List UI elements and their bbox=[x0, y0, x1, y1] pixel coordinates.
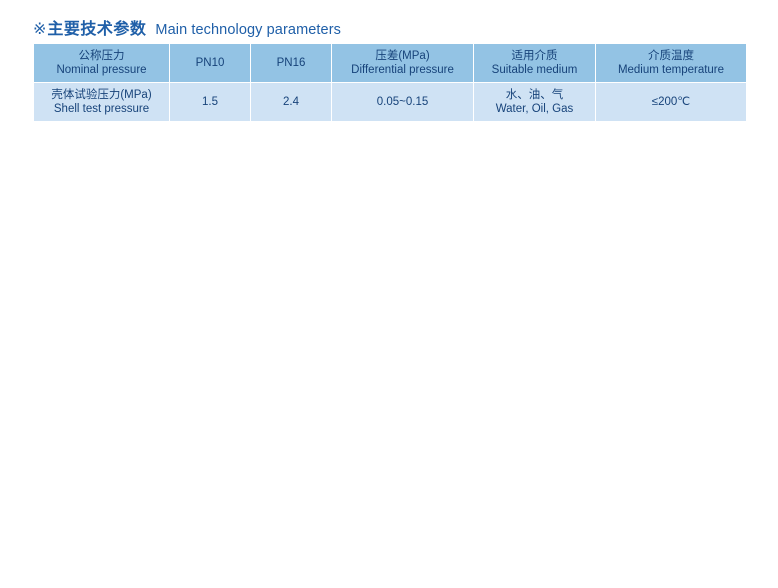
table-header-cell: 压差(MPa) Differential pressure bbox=[332, 44, 474, 83]
header-cell-en: Medium temperature bbox=[618, 63, 724, 77]
cell-en: Water, Oil, Gas bbox=[496, 102, 574, 116]
table-header-cell: PN16 bbox=[251, 44, 332, 83]
table-row: 壳体试验压力(MPa) Shell test pressure 1.5 2.4 bbox=[34, 83, 747, 122]
table-header-row: 公称压力 Nominal pressure PN10 PN16 bbox=[34, 44, 747, 83]
header-cell-cn: 压差(MPa) bbox=[375, 49, 429, 63]
table-header-cell: 适用介质 Suitable medium bbox=[474, 44, 596, 83]
header-cell-en: Differential pressure bbox=[351, 63, 454, 77]
page: ※ 主要技术参数 Main technology parameters 公称压力… bbox=[0, 0, 778, 588]
cell-en: Shell test pressure bbox=[54, 102, 149, 116]
header-cell-cn: 适用介质 bbox=[512, 49, 558, 63]
bullet-mark-icon: ※ bbox=[33, 22, 46, 38]
section-heading-en: Main technology parameters bbox=[155, 22, 341, 38]
table-cell: 1.5 bbox=[170, 83, 251, 122]
cell-value: ≤200℃ bbox=[652, 95, 690, 109]
technical-parameters-table: 公称压力 Nominal pressure PN10 PN16 bbox=[33, 43, 747, 122]
table-header-cell: PN10 bbox=[170, 44, 251, 83]
table-header-cell: 介质温度 Medium temperature bbox=[596, 44, 747, 83]
table-header-cell: 公称压力 Nominal pressure bbox=[34, 44, 170, 83]
table-cell: 0.05~0.15 bbox=[332, 83, 474, 122]
table-cell: 壳体试验压力(MPa) Shell test pressure bbox=[34, 83, 170, 122]
cell-value: 2.4 bbox=[283, 95, 299, 109]
header-cell-cn: PN10 bbox=[196, 56, 225, 70]
section-heading: ※ 主要技术参数 Main technology parameters bbox=[33, 15, 341, 39]
header-cell-en: Nominal pressure bbox=[56, 63, 146, 77]
header-cell-cn: 介质温度 bbox=[648, 49, 694, 63]
cell-value: 1.5 bbox=[202, 95, 218, 109]
header-cell-cn: PN16 bbox=[277, 56, 306, 70]
table-cell: 2.4 bbox=[251, 83, 332, 122]
cell-value: 0.05~0.15 bbox=[377, 95, 428, 109]
section-heading-cn: 主要技术参数 bbox=[47, 15, 146, 39]
cell-cn: 壳体试验压力(MPa) bbox=[51, 88, 151, 102]
header-cell-en: Suitable medium bbox=[492, 63, 578, 77]
header-cell-cn: 公称压力 bbox=[79, 49, 125, 63]
table-cell: ≤200℃ bbox=[596, 83, 747, 122]
table-cell: 水、油、气 Water, Oil, Gas bbox=[474, 83, 596, 122]
cell-cn: 水、油、气 bbox=[506, 88, 564, 102]
